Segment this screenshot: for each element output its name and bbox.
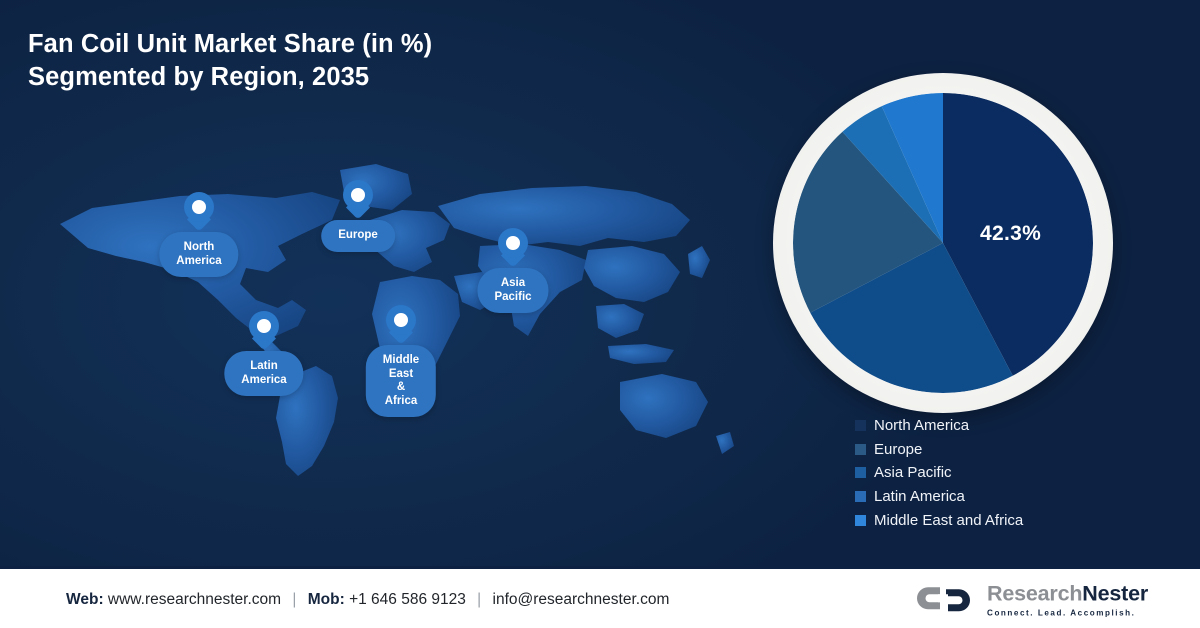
- footer-contact-line: Web: www.researchnester.com | Mob: +1 64…: [66, 591, 669, 609]
- title-line-1: Fan Coil Unit Market Share (in %): [28, 28, 668, 61]
- pin-dot-shape: [394, 313, 408, 327]
- legend-label: North America: [874, 418, 969, 433]
- map-label-europe: Europe: [321, 220, 395, 252]
- logo-name-row: ResearchNester: [987, 583, 1148, 605]
- legend-label: Europe: [874, 442, 922, 457]
- logo-name-first: Research: [987, 581, 1082, 605]
- pin-dot-shape: [351, 188, 365, 202]
- map-label-asia-pacific: Asia Pacific: [477, 268, 548, 313]
- map-label-middle-east-africa: Middle East & Africa: [366, 345, 436, 417]
- legend-item[interactable]: Middle East and Africa: [855, 508, 1023, 532]
- pin-dot-shape: [192, 200, 206, 214]
- map-pin-icon: [184, 192, 214, 232]
- footer-bar: Web: www.researchnester.com | Mob: +1 64…: [0, 566, 1200, 628]
- legend-item[interactable]: Latin America: [855, 485, 1023, 509]
- map-pin-icon: [343, 180, 373, 220]
- legend-label: Latin America: [874, 489, 965, 504]
- pie-chart: [793, 93, 1093, 393]
- logo-tagline: Connect. Lead. Accomplish.: [987, 608, 1148, 617]
- legend-label: Asia Pacific: [874, 465, 952, 480]
- title-line-2: Segmented by Region, 2035: [28, 61, 668, 94]
- legend-swatch-icon: [855, 515, 866, 526]
- footer-mob-label: Mob:: [308, 591, 345, 608]
- footer-mob-value[interactable]: +1 646 586 9123: [349, 591, 466, 608]
- map-label-latin-america: Latin America: [224, 351, 303, 396]
- legend-swatch-icon: [855, 420, 866, 431]
- pie-slice-group: [793, 93, 1093, 393]
- pin-dot-shape: [257, 319, 271, 333]
- logo-name-second: Nester: [1082, 581, 1148, 605]
- legend-item[interactable]: Asia Pacific: [855, 461, 1023, 485]
- footer-separator-1: |: [292, 591, 296, 608]
- logo-brackets-icon: [916, 585, 978, 615]
- legend-swatch-icon: [855, 467, 866, 478]
- chart-legend: North AmericaEuropeAsia PacificLatin Ame…: [855, 414, 1023, 532]
- legend-label: Middle East and Africa: [874, 513, 1023, 528]
- legend-item[interactable]: Europe: [855, 438, 1023, 462]
- footer-separator-2: |: [477, 591, 481, 608]
- research-nester-logo[interactable]: ResearchNester Connect. Lead. Accomplish…: [916, 583, 1148, 617]
- legend-item[interactable]: North America: [855, 414, 1023, 438]
- pin-dot-shape: [506, 236, 520, 250]
- map-pin-icon: [386, 305, 416, 345]
- map-pin-icon: [249, 311, 279, 351]
- map-label-north-america: North America: [159, 232, 238, 277]
- footer-email-value[interactable]: info@researchnester.com: [493, 591, 670, 608]
- map-pin-icon: [498, 228, 528, 268]
- logo-wordmark: ResearchNester Connect. Lead. Accomplish…: [987, 583, 1148, 617]
- footer-web-value[interactable]: www.researchnester.com: [108, 591, 281, 608]
- infographic-canvas: Fan Coil Unit Market Share (in %) Segmen…: [0, 0, 1200, 628]
- page-title: Fan Coil Unit Market Share (in %) Segmen…: [28, 28, 668, 93]
- legend-swatch-icon: [855, 491, 866, 502]
- legend-swatch-icon: [855, 444, 866, 455]
- footer-web-label: Web:: [66, 591, 104, 608]
- pie-slice-label-north-america: 42.3%: [980, 222, 1041, 246]
